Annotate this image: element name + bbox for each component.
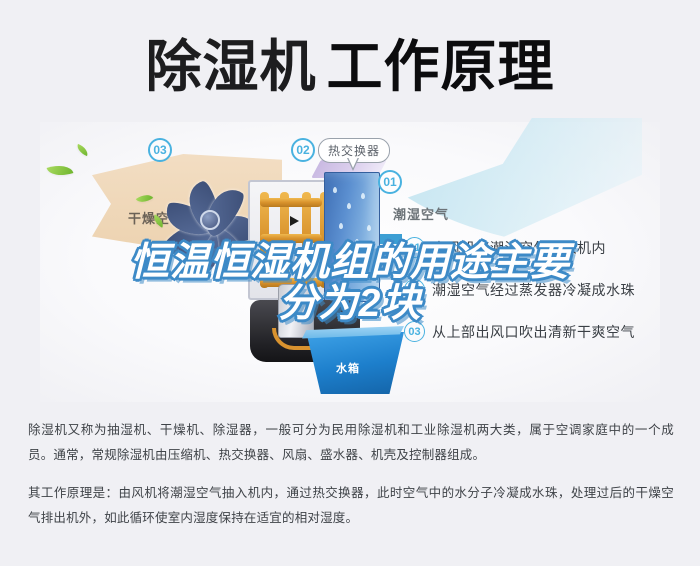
step-list: 01 由风机将潮湿空气抽入机内 02 潮湿空气经过蒸发器冷凝成水珠 03 从上部… <box>404 237 694 363</box>
body-copy: 除湿机又称为抽湿机、干燥机、除湿器，一般可分为民用除湿机和工业除湿机两大类，属于… <box>28 418 674 531</box>
paragraph-one: 除湿机又称为抽湿机、干燥机、除湿器，一般可分为民用除湿机和工业除湿机两大类，属于… <box>28 418 674 468</box>
diagram-badge-03: 03 <box>148 138 172 162</box>
diagram-badge-01: 01 <box>378 170 402 194</box>
diagram-badge-02: 02 <box>291 138 315 162</box>
page-title-primary: 除湿机 <box>146 22 317 103</box>
paragraph-two: 其工作原理是：由风机将潮湿空气抽入机内，通过热交换器，此时空气中的水分子冷凝成水… <box>28 481 674 531</box>
step-badge: 03 <box>404 321 425 342</box>
fan-hub <box>200 210 220 230</box>
infographic-page: 除湿机工作原理 干燥空气 潮湿空气 <box>0 0 700 566</box>
page-title: 除湿机工作原理 <box>0 22 700 103</box>
callout-tail-inner <box>348 157 358 168</box>
heat-exchanger-icon <box>324 172 380 302</box>
list-item: 01 由风机将潮湿空气抽入机内 <box>404 237 694 258</box>
refrigerant-coil-icon <box>248 180 334 300</box>
step-text: 潮湿空气经过蒸发器冷凝成水珠 <box>432 280 635 300</box>
step-badge: 02 <box>404 279 425 300</box>
step-text: 从上部出风口吹出清新干爽空气 <box>432 322 635 342</box>
water-tank-label: 水箱 <box>336 360 360 376</box>
step-text: 由风机将潮湿空气抽入机内 <box>432 238 606 258</box>
water-tank-icon: 水箱 <box>300 322 404 394</box>
list-item: 02 潮湿空气经过蒸发器冷凝成水珠 <box>404 279 694 300</box>
list-item: 03 从上部出风口吹出清新干爽空气 <box>404 321 694 342</box>
dehumidifier-diagram: 干燥空气 潮湿空气 <box>0 112 700 402</box>
leaf-icon <box>47 161 74 181</box>
page-title-secondary: 工作原理 <box>327 22 555 103</box>
leaf-icon <box>75 144 90 156</box>
step-badge: 01 <box>404 237 425 258</box>
